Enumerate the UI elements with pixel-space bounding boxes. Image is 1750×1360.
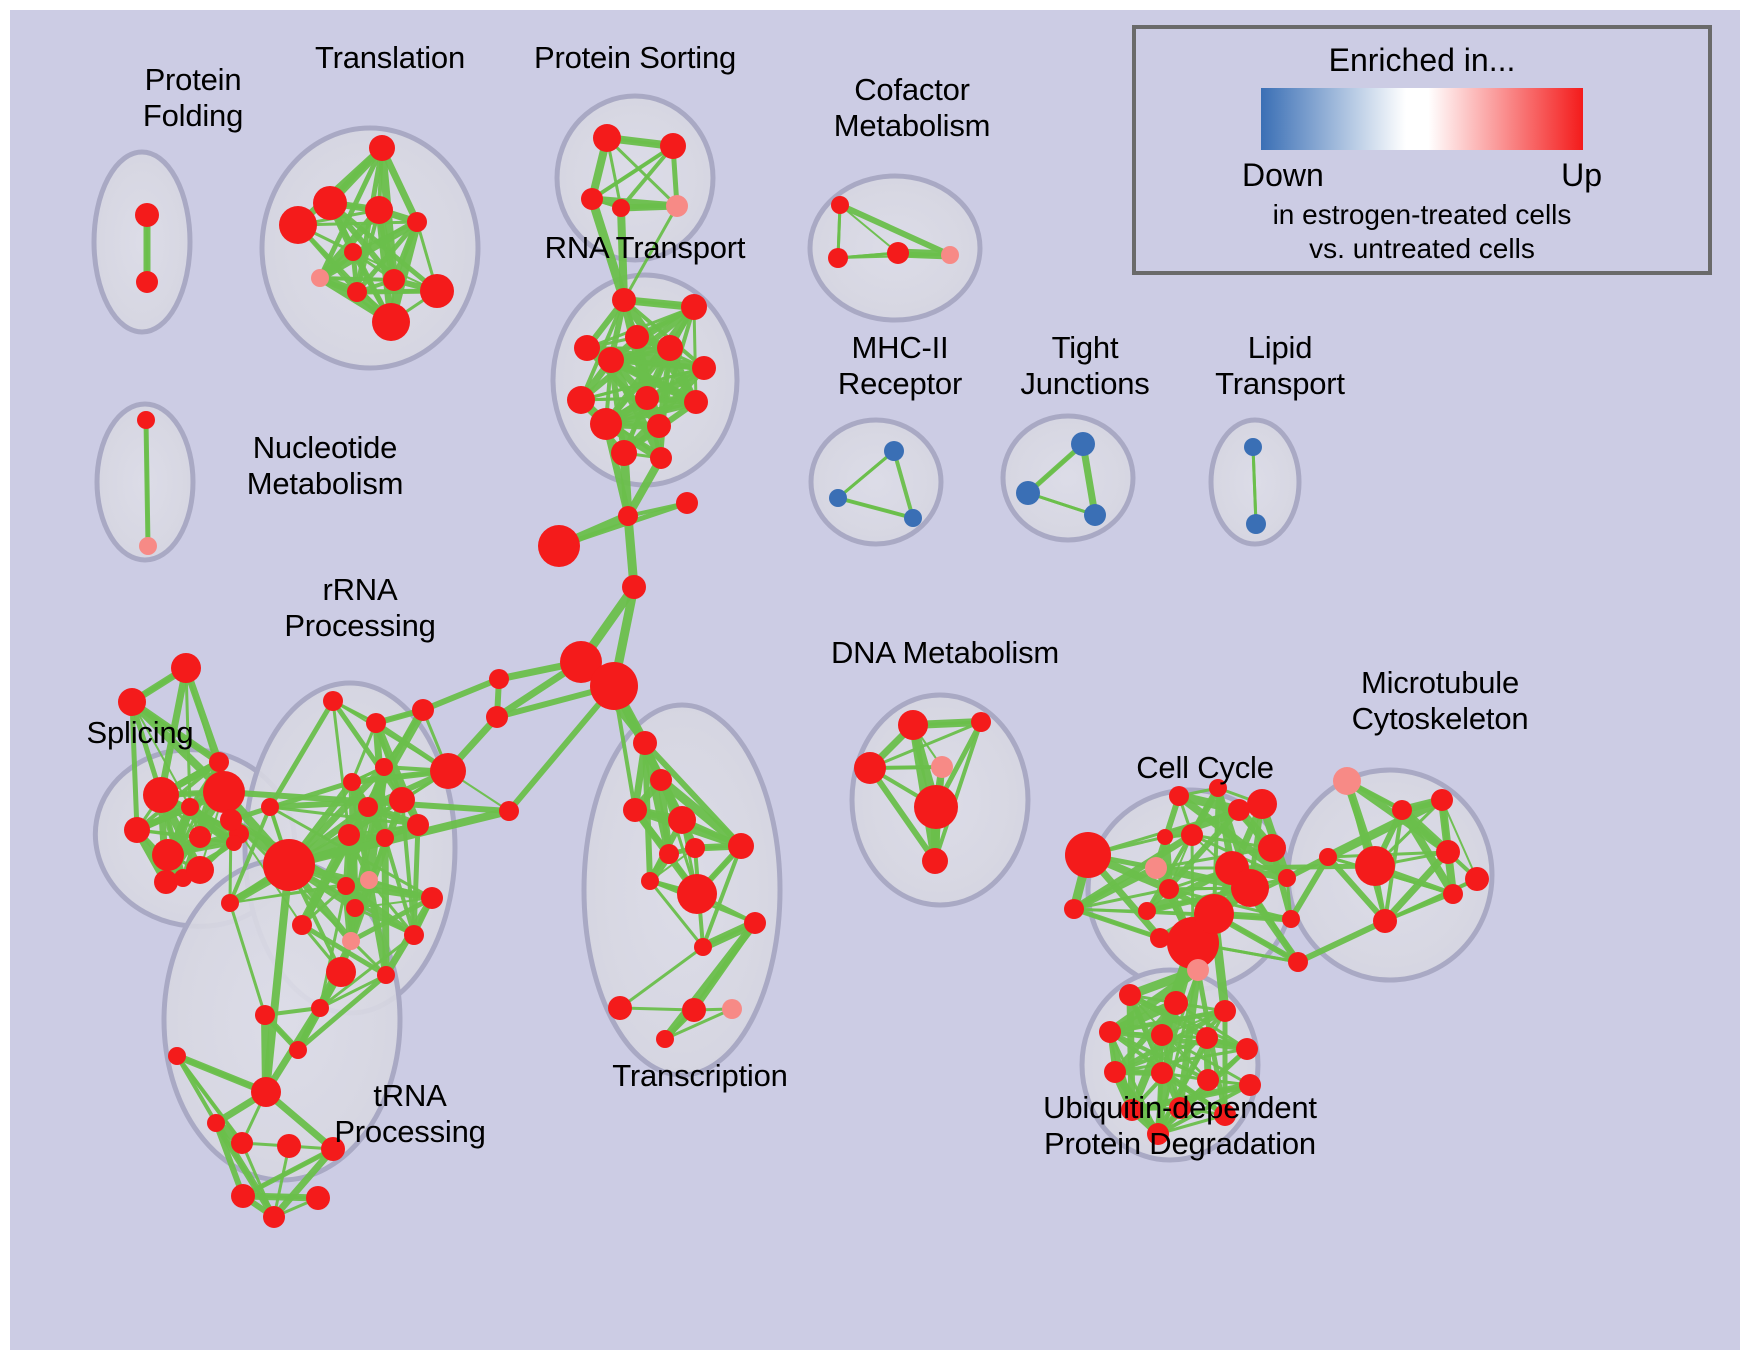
network-edge [423,679,499,710]
network-node[interactable] [650,447,672,469]
network-node[interactable] [623,798,647,822]
network-node[interactable] [1164,991,1188,1015]
network-node[interactable] [612,288,636,312]
network-node[interactable] [407,814,429,836]
network-node[interactable] [1150,928,1170,948]
cluster-ellipse [1003,416,1133,540]
network-node[interactable] [226,835,242,851]
network-node[interactable] [279,206,317,244]
network-node[interactable] [486,706,508,728]
network-node[interactable] [1016,481,1040,505]
network-node[interactable] [1194,894,1234,934]
network-node[interactable] [346,899,364,917]
legend-title: Enriched in... [1136,42,1708,79]
network-node[interactable] [684,390,708,414]
network-node[interactable] [154,870,178,894]
network-node[interactable] [377,966,395,984]
network-node[interactable] [1159,879,1179,899]
network-node[interactable] [722,999,742,1019]
network-node[interactable] [904,509,922,527]
network-node[interactable] [1064,899,1084,919]
network-node[interactable] [338,824,360,846]
cluster-ellipse [94,152,190,332]
legend-color-bar [1261,88,1583,150]
network-node[interactable] [590,662,638,710]
network-node[interactable] [231,1132,253,1154]
cluster-ellipse [557,96,713,260]
network-node[interactable] [1231,869,1269,907]
network-edge [320,278,394,280]
legend-box: Enriched in... Down Up in estrogen-treat… [1132,25,1712,275]
network-node[interactable] [1104,1061,1126,1083]
cluster-ellipse [811,420,941,544]
network-node[interactable] [263,839,315,891]
network-node[interactable] [647,414,671,438]
network-node[interactable] [152,839,184,871]
network-node[interactable] [1197,1069,1219,1091]
network-node[interactable] [1228,799,1250,821]
network-node[interactable] [657,335,683,361]
legend-down-label: Down [1242,157,1324,194]
network-node[interactable] [884,441,904,461]
legend-up-label: Up [1561,157,1602,194]
network-node[interactable] [360,871,378,889]
network-node[interactable] [1465,867,1489,891]
network-node[interactable] [1333,767,1361,795]
network-node[interactable] [1151,1062,1173,1084]
network-node[interactable] [1099,1021,1121,1043]
network-node[interactable] [1236,1038,1258,1060]
network-node[interactable] [682,998,706,1022]
network-node[interactable] [633,731,657,755]
network-node[interactable] [407,212,427,232]
network-node[interactable] [1209,779,1227,797]
network-node[interactable] [656,1030,674,1048]
network-node[interactable] [574,335,600,361]
figure-canvas: Protein FoldingTranslationProtein Sortin… [0,0,1750,1360]
network-node[interactable] [263,1206,285,1228]
network-node[interactable] [694,938,712,956]
network-node[interactable] [1119,984,1141,1006]
network-node[interactable] [971,712,991,732]
network-node[interactable] [203,771,245,813]
network-node[interactable] [914,785,958,829]
network-node[interactable] [1436,840,1460,864]
network-node[interactable] [622,575,646,599]
network-node[interactable] [681,294,707,320]
network-node[interactable] [143,777,179,813]
network-node[interactable] [1187,959,1209,981]
network-node[interactable] [677,874,717,914]
network-node[interactable] [136,271,158,293]
network-node[interactable] [1214,1000,1236,1022]
network-node[interactable] [1246,514,1266,534]
network-node[interactable] [337,877,355,895]
network-node[interactable] [1071,432,1095,456]
network-node[interactable] [306,1186,330,1210]
network-node[interactable] [941,246,959,264]
network-node[interactable] [922,848,948,874]
network-node[interactable] [567,386,595,414]
network-node[interactable] [366,713,386,733]
network-node[interactable] [412,699,434,721]
network-node[interactable] [137,411,155,429]
network-node[interactable] [311,269,329,287]
network-node[interactable] [420,274,454,308]
network-node[interactable] [598,347,624,373]
network-node[interactable] [251,1077,281,1107]
network-node[interactable] [1355,846,1395,886]
network-node[interactable] [209,752,229,772]
network-node[interactable] [676,492,698,514]
network-edge [146,420,148,546]
network-node[interactable] [189,826,211,848]
network-node[interactable] [389,787,415,813]
network-node[interactable] [692,356,716,380]
network-node[interactable] [231,1184,255,1208]
network-node[interactable] [538,525,580,567]
network-node[interactable] [1278,869,1296,887]
network-node[interactable] [1084,504,1106,526]
network-plot-area: Protein FoldingTranslationProtein Sortin… [10,10,1740,1350]
network-node[interactable] [828,248,848,268]
network-node[interactable] [1319,848,1337,866]
network-node[interactable] [220,809,242,831]
network-node[interactable] [660,133,686,159]
network-node[interactable] [611,440,637,466]
network-node[interactable] [404,925,424,945]
network-node[interactable] [898,710,928,740]
network-node[interactable] [1282,910,1300,928]
network-node[interactable] [1181,824,1203,846]
network-node[interactable] [171,653,201,683]
network-node[interactable] [608,996,632,1020]
network-node[interactable] [618,506,638,526]
network-node[interactable] [685,838,705,858]
network-node[interactable] [365,196,393,224]
network-node[interactable] [1431,789,1453,811]
network-node[interactable] [1196,1027,1218,1049]
network-node[interactable] [207,1114,225,1132]
network-node[interactable] [1373,909,1397,933]
network-node[interactable] [1157,829,1173,845]
network-node[interactable] [118,688,146,716]
network-node[interactable] [1065,832,1111,878]
network-node[interactable] [650,769,672,791]
network-edge [1232,866,1375,868]
network-node[interactable] [1169,1097,1191,1119]
network-node[interactable] [313,186,347,220]
network-node[interactable] [1145,857,1167,879]
network-node[interactable] [1151,1024,1173,1046]
network-edge [621,208,624,300]
network-node[interactable] [1258,834,1286,862]
network-node[interactable] [186,856,214,884]
network-node[interactable] [854,752,886,784]
network-node[interactable] [1443,884,1463,904]
network-node[interactable] [139,537,157,555]
network-node[interactable] [1247,789,1277,819]
network-node[interactable] [499,801,519,821]
network-node[interactable] [321,1137,345,1161]
network-node[interactable] [1244,438,1262,456]
network-node[interactable] [625,325,649,349]
network-node[interactable] [1288,952,1308,972]
network-node[interactable] [612,199,630,217]
network-node[interactable] [829,489,847,507]
network-node[interactable] [261,798,279,816]
network-node[interactable] [343,773,361,791]
network-node[interactable] [277,1134,301,1158]
network-node[interactable] [181,798,199,816]
network-node[interactable] [430,753,466,789]
network-node[interactable] [666,195,688,217]
network-node[interactable] [593,124,621,152]
legend-caption: in estrogen-treated cells vs. untreated … [1136,198,1708,266]
network-node[interactable] [369,135,395,161]
network-node[interactable] [1169,786,1189,806]
network-node[interactable] [590,408,622,440]
network-node[interactable] [1138,902,1156,920]
network-node[interactable] [358,797,378,817]
legend-endpoints: Down Up [1242,157,1602,194]
network-node[interactable] [344,243,362,261]
network-node[interactable] [311,999,329,1017]
network-node[interactable] [489,669,509,689]
network-node[interactable] [581,188,603,210]
network-node[interactable] [326,957,356,987]
network-node[interactable] [289,1041,307,1059]
network-node[interactable] [255,1005,275,1025]
network-node[interactable] [372,303,410,341]
network-node[interactable] [383,269,405,291]
network-node[interactable] [744,912,766,934]
network-node[interactable] [887,242,909,264]
network-node[interactable] [641,872,659,890]
network-node[interactable] [1392,800,1412,820]
network-node[interactable] [124,817,150,843]
network-node[interactable] [931,756,953,778]
network-edge [694,307,696,402]
network-node[interactable] [1214,1104,1236,1126]
network-node[interactable] [728,833,754,859]
network-node[interactable] [292,915,312,935]
network-node[interactable] [342,932,360,950]
network-node[interactable] [347,282,367,302]
network-node[interactable] [375,758,393,776]
network-node[interactable] [1121,1099,1143,1121]
network-node[interactable] [135,203,159,227]
network-node[interactable] [168,1047,186,1065]
network-node[interactable] [659,844,679,864]
network-node[interactable] [323,691,343,711]
network-node[interactable] [221,894,239,912]
network-node[interactable] [831,196,849,214]
network-node[interactable] [376,829,394,847]
network-node[interactable] [635,386,659,410]
network-node[interactable] [668,806,696,834]
network-node[interactable] [1239,1074,1261,1096]
network-node[interactable] [1147,1123,1169,1145]
network-node[interactable] [421,887,443,909]
